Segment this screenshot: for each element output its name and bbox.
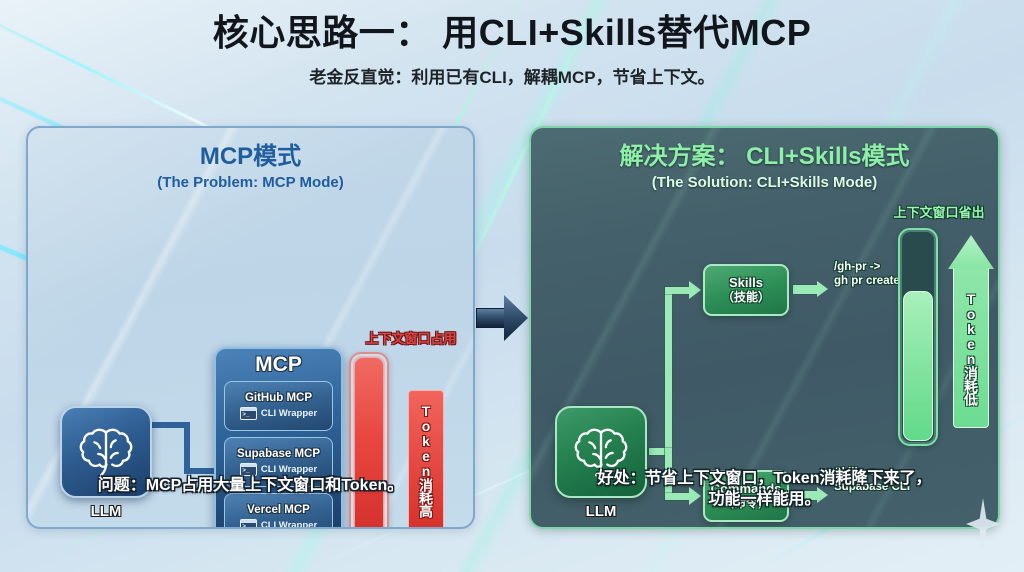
solution-panel-header: 解决方案： CLI+Skills模式 (The Solution: CLI+Sk… xyxy=(531,144,998,191)
context-saving-gauge xyxy=(898,228,938,446)
terminal-icon xyxy=(240,463,257,476)
connector-line xyxy=(665,287,691,294)
terminal-icon xyxy=(240,519,257,529)
context-saving-caption: 上下文窗口省出 xyxy=(876,202,1000,221)
solution-heading-en: (The Solution: CLI+Skills Mode) xyxy=(531,174,998,191)
context-usage-caption: 上下文窗口占用 xyxy=(343,328,475,347)
mcp-item-sub: CLI Wrapper xyxy=(240,519,317,529)
solution-heading-cn: 解决方案： CLI+Skills模式 xyxy=(531,144,998,170)
cli-wrapper-label: CLI Wrapper xyxy=(261,464,317,475)
slide-header: 核心思路一： 用CLI+Skills替代MCP 老金反直觉：利用已有CLI，解耦… xyxy=(0,12,1024,88)
flow-arrow-skills xyxy=(793,285,817,294)
token-cost-label: Token消耗高 xyxy=(419,403,433,517)
connector-line xyxy=(665,287,672,455)
skills-box[interactable]: Skills （技能） xyxy=(703,264,789,316)
token-cost-arrow-up: Token消耗低 xyxy=(948,235,994,431)
connector-line xyxy=(184,422,190,474)
mcp-item-github[interactable]: GitHub MCP CLI Wrapper xyxy=(224,381,333,431)
cli-wrapper-label: CLI Wrapper xyxy=(261,408,317,419)
mcp-item-label: GitHub MCP xyxy=(245,392,312,404)
skills-box-title: Skills xyxy=(729,276,763,290)
llm-node[interactable]: LLM xyxy=(60,406,152,520)
problem-heading-en: (The Problem: MCP Mode) xyxy=(28,174,473,191)
mcp-container[interactable]: MCP GitHub MCP CLI Wrapper Supabase MCP … xyxy=(214,347,343,529)
terminal-icon xyxy=(240,407,257,420)
connector-line xyxy=(184,468,218,474)
arrow-head-icon xyxy=(948,235,994,269)
arrow-head-icon xyxy=(689,281,701,299)
mcp-item-vercel[interactable]: Vercel MCP CLI Wrapper xyxy=(224,493,333,529)
problem-panel-header: MCP模式 (The Problem: MCP Mode) xyxy=(28,144,473,191)
solution-panel: 解决方案： CLI+Skills模式 (The Solution: CLI+Sk… xyxy=(529,126,1000,529)
gauge-fill xyxy=(903,291,933,441)
problem-heading-cn: MCP模式 xyxy=(28,144,473,170)
page-title: 核心思路一： 用CLI+Skills替代MCP xyxy=(0,12,1024,54)
token-cost-arrow-down: Token消耗高 xyxy=(403,390,449,529)
mcp-item-label: Vercel MCP xyxy=(247,504,310,516)
mcp-title: MCP xyxy=(216,353,341,377)
slide-canvas: 核心思路一： 用CLI+Skills替代MCP 老金反直觉：利用已有CLI，解耦… xyxy=(0,0,1024,572)
mcp-item-label: Supabase MCP xyxy=(237,448,320,460)
context-usage-gauge xyxy=(349,352,389,529)
context-usage-group: 上下文窗口占用 Token消耗高 xyxy=(343,328,475,529)
mcp-item-sub: CLI Wrapper xyxy=(240,407,317,420)
context-saving-group: 上下文窗口省出 Token消耗低 xyxy=(876,202,1000,462)
skills-box-subtitle: （技能） xyxy=(722,291,770,304)
cli-wrapper-label: CLI Wrapper xyxy=(261,520,317,529)
problem-footer: 问题：MCP占用大量上下文窗口和Token。 xyxy=(28,476,473,497)
problem-panel: MCP模式 (The Problem: MCP Mode) LLM MCP xyxy=(26,126,475,529)
gauge-fill xyxy=(354,357,384,529)
mcp-item-sub: CLI Wrapper xyxy=(240,463,317,476)
token-cost-label: Token消耗低 xyxy=(964,291,978,405)
arrow-head-icon xyxy=(403,527,449,529)
page-subtitle: 老金反直觉：利用已有CLI，解耦MCP，节省上下文。 xyxy=(0,63,1024,88)
arrow-right-icon xyxy=(476,295,528,341)
solution-footer: 好处：节省上下文窗口，Token消耗降下来了， 功能一样能用。 xyxy=(531,469,998,511)
llm-label: LLM xyxy=(60,503,152,520)
